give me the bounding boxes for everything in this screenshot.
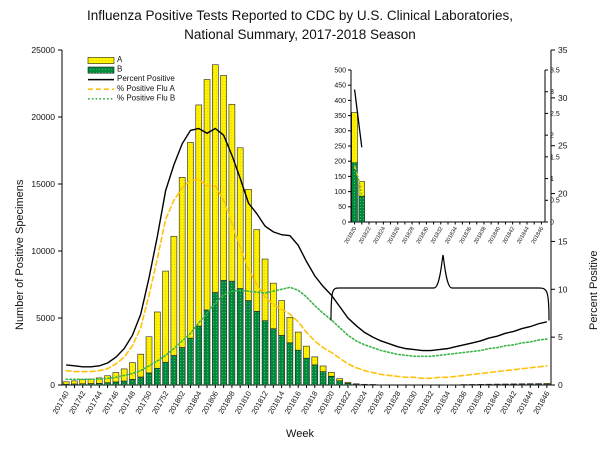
bar-flu-b [179,347,185,385]
bar-flu-a [320,366,326,372]
inset-y-tick-label-right: 1 [550,176,554,183]
inset-y-tick-label-left: 50 [338,204,346,211]
inset-x-tick-label: 201826 [387,226,402,245]
bar-flu-b [337,381,343,385]
bar-flu-b [312,365,318,385]
inset-x-tick-label: 201838 [473,226,488,245]
y-tick-label-left: 5000 [36,313,55,323]
y-tick-label-right: 0 [558,380,563,390]
bar-flu-b [187,338,193,385]
y-tick-label-right: 15 [558,236,568,246]
bar-flu-b [113,382,119,385]
bar-flu-b [320,372,326,385]
chart-canvas: 0500010000150002000025000051015202530352… [0,0,600,450]
bar-flu-b [154,368,160,385]
legend-swatch-b [88,67,114,73]
inset-y-tick-label-left: 400 [334,98,346,105]
bar-flu-a [312,357,318,365]
bar-flu-b [171,356,177,385]
inset-bar-flu-b [352,163,358,222]
inset-x-tick-label: 201844 [516,226,531,245]
bar-flu-a [262,259,268,321]
inset-y-tick-label-left: 450 [334,83,346,90]
bar-flu-b [237,289,243,385]
bar-flu-b [229,281,235,385]
bar-flu-a [171,236,177,355]
bar-flu-b [212,293,218,385]
legend-label: % Positive Flu A [117,84,175,93]
y-tick-label-right: 5 [558,332,563,342]
bar-flu-a [527,384,533,385]
inset-y-tick-label-right: 2.5 [550,111,560,118]
inset-y-tick-label-right: 2 [550,133,554,140]
bar-flu-b [196,326,202,385]
bar-flu-a [337,379,343,381]
inset-y-tick-label-right: 0 [550,219,554,226]
y-tick-label-right: 25 [558,141,568,151]
legend-label: % Positive Flu B [117,93,175,102]
inset-x-tick-label: 201840 [487,226,502,245]
inset-x-tick-label: 201846 [531,226,546,245]
inset-x-tick-label: 201836 [459,226,474,245]
bar-flu-b [304,358,310,385]
inset-y-tick-label-right: 0.5 [550,198,560,205]
bar-flu-b [295,350,301,385]
bar-flu-a [544,383,550,384]
inset-x-tick-label: 201842 [502,226,517,245]
bar-flu-b [279,335,285,385]
bar-flu-a [221,75,227,280]
legend-label: A [117,55,123,64]
inset-y-tick-label-left: 100 [334,189,346,196]
bar-flu-a [536,384,542,385]
y-tick-label-left: 0 [50,380,55,390]
bar-flu-b [138,377,144,385]
inset-x-tick-label: 201824 [373,226,388,245]
bar-flu-b [121,381,127,385]
inset-x-tick-label: 201834 [444,226,459,245]
inset-y-tick-label-left: 350 [334,113,346,120]
bar-flu-a [519,384,525,385]
inset-bar-flu-a [352,113,358,163]
bar-flu-b [254,311,260,385]
inset-bar-flu-b [359,196,365,222]
bar-flu-b [105,383,111,385]
bar-flu-a [295,332,301,350]
bar-flu-a [163,271,169,362]
bar-flu-b [262,321,268,385]
bar-flu-a [328,372,334,376]
bar-flu-b [129,379,135,385]
legend-swatch-a [88,57,114,63]
y-tick-label-right: 30 [558,93,568,103]
inset-y-tick-label-right: 3 [550,89,554,96]
inset-y-tick-label-left: 200 [334,159,346,166]
influenza-chart-figure: Influenza Positive Tests Reported to CDC… [0,0,600,450]
bar-flu-a [204,79,210,309]
y-tick-label-right: 35 [558,45,568,55]
inset-background [351,70,545,222]
inset-x-tick-label: 201832 [430,226,445,245]
bar-flu-a [138,354,144,377]
x-tick-label: 201846 [531,390,551,416]
legend-label: Percent Positive [117,74,175,83]
bar-flu-a [63,382,69,384]
bar-flu-a [304,346,310,358]
inset-y-tick-label-left: 150 [334,174,346,181]
bar-flu-b [270,329,276,385]
bar-flu-a [80,380,86,384]
inset-x-tick-label: 201822 [358,226,373,245]
bar-flu-a [229,104,235,281]
inset-y-tick-label-left: 300 [334,128,346,135]
inset-y-tick-label-left: 500 [334,67,346,74]
bar-flu-b [204,310,210,385]
bar-flu-a [511,384,517,385]
bar-flu-b [287,343,293,385]
inset-x-tick-label: 201828 [401,226,416,245]
bar-flu-b [146,373,152,385]
bar-flu-a [254,230,260,312]
inset-y-tick-label-left: 0 [342,219,346,226]
inset-y-tick-label-left: 250 [334,143,346,150]
inset-x-tick-label: 201830 [416,226,431,245]
bar-flu-a [345,382,351,383]
bar-flu-a [146,337,152,373]
inset-y-tick-label-right: 3.5 [550,67,560,74]
bar-flu-a [71,381,77,384]
bar-flu-a [187,142,193,338]
bar-flu-a [287,317,293,342]
y-tick-label-left: 10000 [31,246,55,256]
bar-flu-b [163,362,169,385]
bar-flu-b [245,301,251,385]
inset-y-tick-label-right: 1.5 [550,154,560,161]
inset-brace [331,255,549,320]
bar-flu-a [129,363,135,380]
y-tick-label-left: 15000 [31,179,55,189]
bar-flu-b [328,376,334,385]
bar-flu-a [212,65,218,293]
legend-label: B [117,65,122,74]
y-tick-label-left: 20000 [31,112,55,122]
y-tick-label-right: 10 [558,284,568,294]
bar-flu-a [237,148,243,289]
bar-flu-a [279,301,285,336]
inset-x-tick-label: 201820 [344,226,359,245]
bar-flu-a [196,105,202,326]
bar-flu-a [179,177,185,347]
y-tick-label-left: 25000 [31,45,55,55]
